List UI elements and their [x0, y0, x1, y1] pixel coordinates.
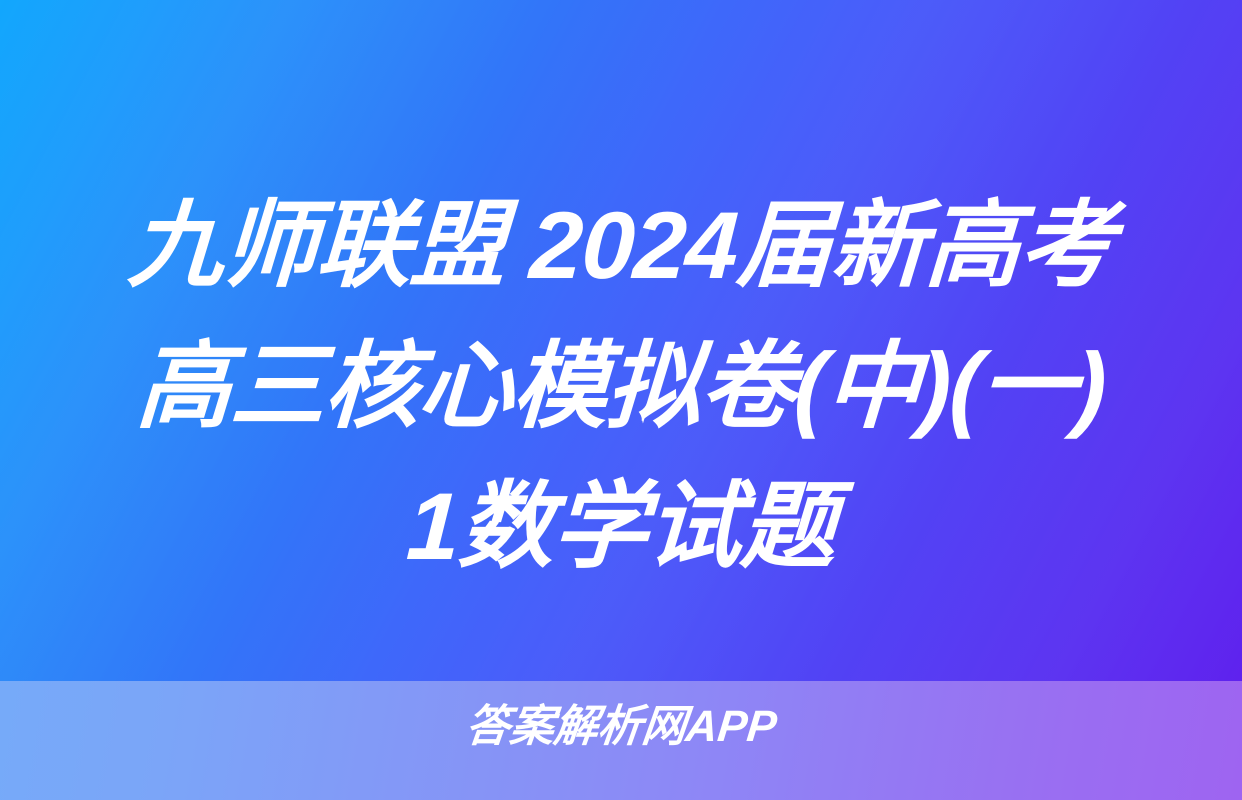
title-line-3: 1数学试题	[0, 457, 1242, 598]
poster-title: 九师联盟 2024届新高考 高三核心模拟卷(中)(一) 1数学试题	[0, 176, 1242, 598]
poster-image: 九师联盟 2024届新高考 高三核心模拟卷(中)(一) 1数学试题 答案解析网A…	[0, 0, 1242, 800]
footer-branding: 答案解析网APP	[0, 703, 1242, 751]
app-name-label: 答案解析网APP	[463, 703, 779, 751]
title-line-2: 高三核心模拟卷(中)(一)	[0, 317, 1242, 458]
title-line-1: 九师联盟 2024届新高考	[0, 176, 1242, 317]
